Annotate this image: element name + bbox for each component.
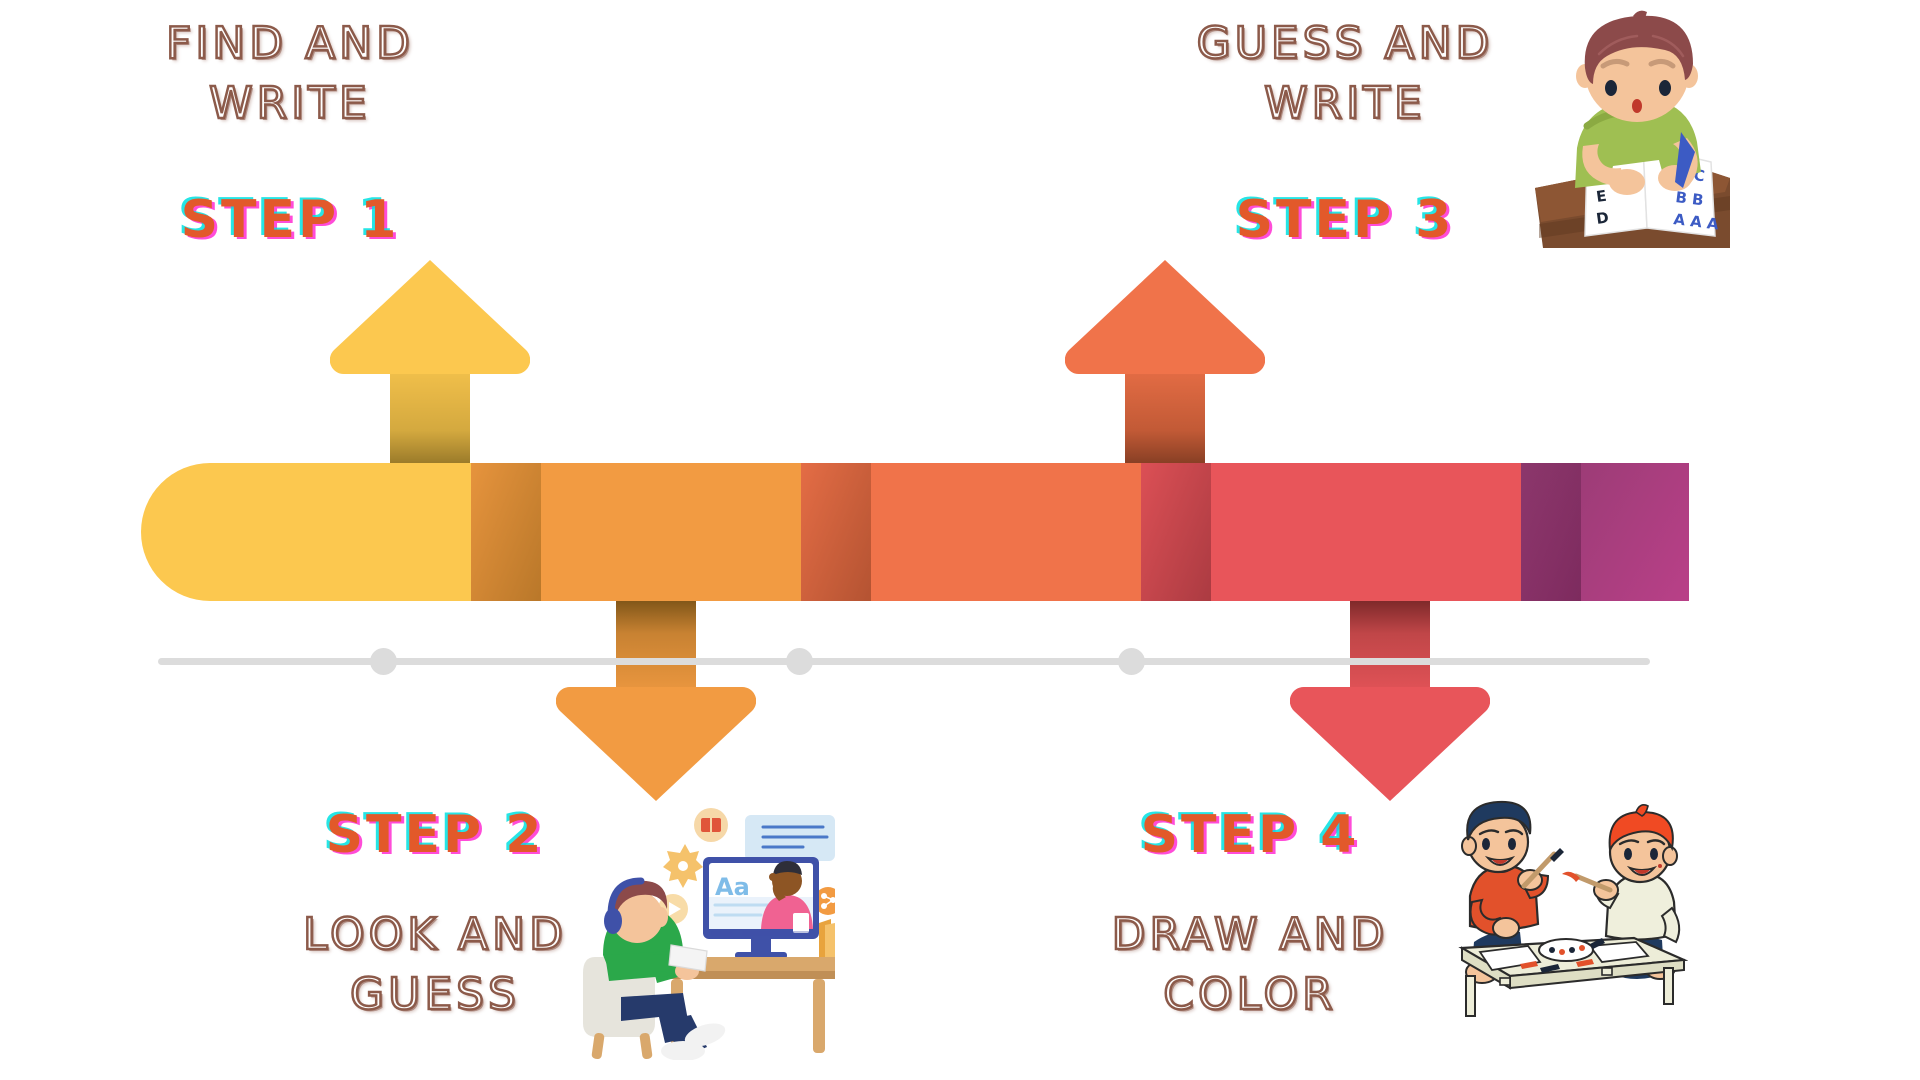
step-3-up-arrow: [1065, 258, 1265, 498]
svg-text:Aa: Aa: [715, 873, 750, 901]
bar-segment-tail: [1521, 463, 1689, 601]
step-3-label: STEP 3: [1195, 190, 1495, 250]
timeline-dot-1: [370, 648, 397, 675]
step-4-caption: DRAW AND COLOR: [1070, 905, 1430, 1025]
step-4-label: STEP 4: [1070, 805, 1430, 865]
timeline-dot-2: [786, 648, 813, 675]
bar-segment-step-4: [1141, 463, 1571, 601]
step-2-down-arrow: [556, 575, 756, 805]
svg-text:B B: B B: [1675, 188, 1705, 209]
step-1-up-arrow: [330, 258, 530, 498]
progress-bar: [141, 463, 1689, 601]
step-4-down-arrow: [1290, 575, 1490, 805]
step-1-caption: FIND AND WRITE: [150, 14, 430, 134]
step-2-label: STEP 2: [290, 805, 580, 865]
timeline-dot-3: [1118, 648, 1145, 675]
step-1-label: STEP 1: [150, 190, 430, 250]
step-2-caption: LOOK AND GUESS: [290, 905, 580, 1025]
infographic-canvas: FIND AND WRITE GUESS AND WRITE LOOK AND …: [0, 0, 1920, 1080]
illustration-student-at-computer: Aa: [575, 805, 835, 1060]
illustration-boy-writing-letters: F E D C C B B A A A: [1525, 10, 1735, 250]
svg-text:D: D: [1595, 208, 1610, 228]
step-3-caption: GUESS AND WRITE: [1195, 14, 1495, 134]
illustration-two-boys-painting: [1448, 800, 1688, 1020]
